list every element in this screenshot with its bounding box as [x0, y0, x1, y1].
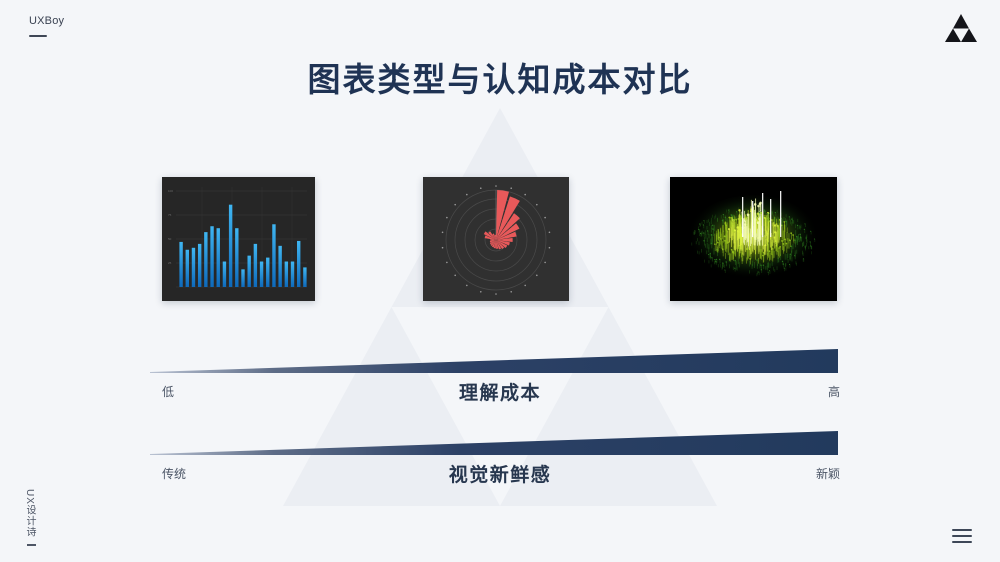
thumbnail-bar-chart[interactable]: 10075 5025 [162, 177, 315, 301]
page-title: 图表类型与认知成本对比 [0, 58, 1000, 102]
brand-name: UXBoy [29, 14, 64, 28]
slide-root: UXBoy 图表类型与认知成本对比 [0, 0, 1000, 562]
sierpinski-triangle-logo-icon[interactable] [945, 13, 977, 43]
hamburger-line [952, 541, 972, 543]
scale-label-row: 低 理解成本 高 [150, 383, 850, 403]
hamburger-menu-icon[interactable] [952, 529, 972, 543]
scale-visual-novelty: 传统 视觉新鲜感 新颖 [0, 423, 1000, 485]
scale-wedge-shape [150, 423, 850, 459]
scale-right-label: 新颖 [816, 465, 840, 482]
brand-underline [29, 35, 47, 37]
footer-underline [27, 544, 36, 546]
thumbnail-row: 10075 5025 [0, 177, 1000, 301]
thumbnail-3d-particle-field[interactable] [670, 177, 837, 301]
svg-text:25: 25 [168, 261, 172, 265]
brand-block: UXBoy [29, 14, 64, 37]
scale-understanding-cost: 低 理解成本 高 [0, 341, 1000, 403]
scale-label-row: 传统 视觉新鲜感 新颖 [150, 465, 850, 485]
hamburger-line [952, 529, 972, 531]
footer-vertical-text: UX设计诗 [23, 489, 36, 538]
thumbnail-polar-rose-chart[interactable] [423, 177, 569, 301]
hamburger-line [952, 535, 972, 537]
scale-title: 视觉新鲜感 [150, 460, 850, 487]
svg-text:100: 100 [168, 189, 173, 193]
svg-text:75: 75 [168, 213, 172, 217]
scale-right-label: 高 [828, 383, 840, 400]
scale-wedge-shape [150, 341, 850, 377]
scale-title: 理解成本 [150, 378, 850, 405]
footer-vertical-brand: UX设计诗 [23, 489, 43, 546]
svg-text:50: 50 [168, 237, 172, 241]
